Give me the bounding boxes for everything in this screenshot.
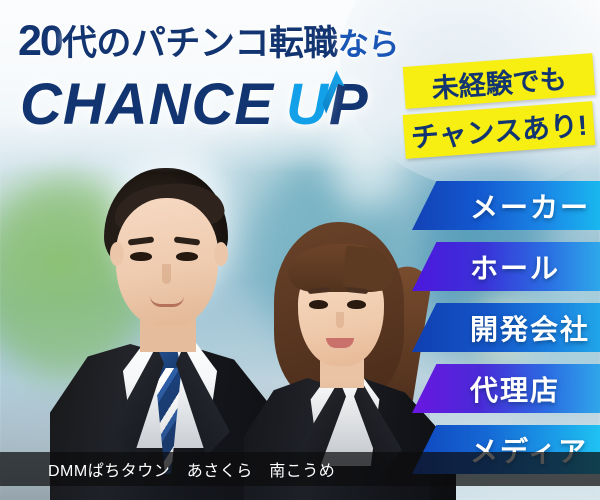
ad-banner[interactable]: 20代のパチンコ転職なら CHANCEUP 未経験でも チャンスあり! メーカー… <box>0 0 600 500</box>
logo-word-u: U <box>286 72 329 137</box>
bangs <box>288 244 396 292</box>
headline: 20代のパチンコ転職なら <box>18 18 438 64</box>
headline-number: 20 <box>18 17 62 65</box>
ear-right <box>214 242 228 266</box>
eye-right <box>176 252 198 261</box>
chance-up-logo: CHANCEUP <box>20 76 369 134</box>
headline-suffix: なら <box>338 27 399 62</box>
logo-word-chance: CHANCE <box>20 72 274 137</box>
credit-bar: DMMぱちタウン あさくら 南こうめ <box>0 452 600 486</box>
ear-left <box>110 242 124 266</box>
credit-text: DMMぱちタウン あさくら 南こうめ <box>48 457 335 481</box>
category-label: 開発会社 <box>470 308 590 348</box>
category-button-maker[interactable]: メーカー <box>412 181 600 230</box>
category-button-development-company[interactable]: 開発会社 <box>412 303 600 352</box>
eye-left <box>130 252 152 261</box>
eye-left <box>309 300 328 309</box>
headline-main: 代のパチンコ転職 <box>62 24 338 63</box>
category-button-agency[interactable]: 代理店 <box>412 364 600 413</box>
category-button-hall[interactable]: ホール <box>412 242 600 291</box>
category-label: メーカー <box>470 186 590 226</box>
nose <box>162 264 171 284</box>
category-label: ホール <box>470 247 560 287</box>
nose <box>336 312 344 328</box>
category-label: 代理店 <box>470 369 560 409</box>
eye-right <box>347 300 366 309</box>
